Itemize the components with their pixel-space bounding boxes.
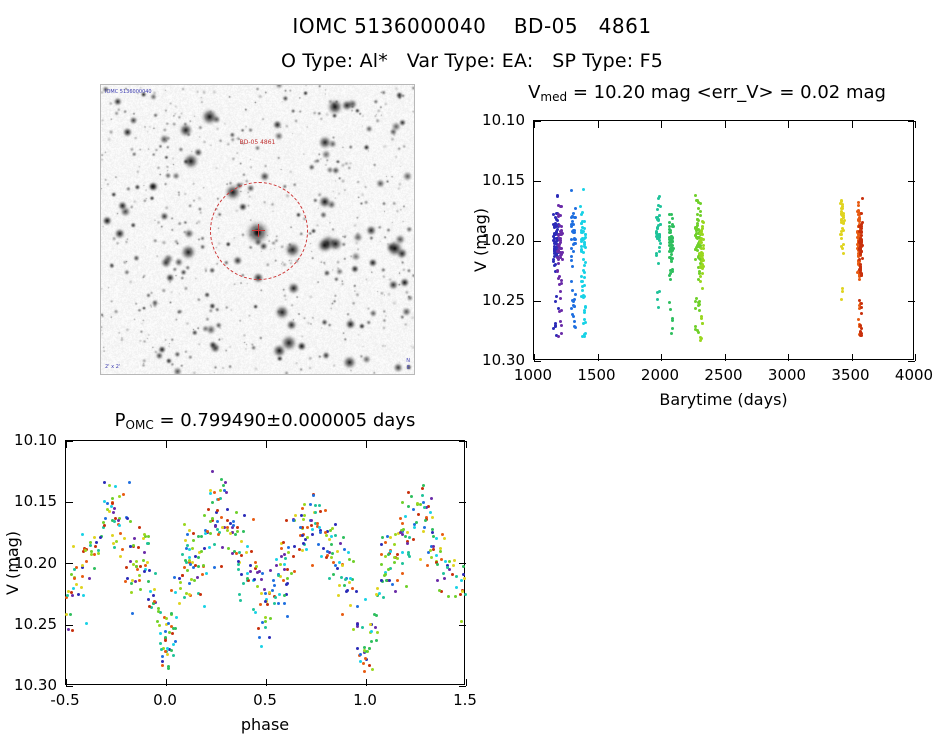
phased-point xyxy=(374,626,377,629)
phased-point xyxy=(117,519,120,522)
lightcurve-xtick xyxy=(661,121,662,128)
lightcurve-point xyxy=(584,236,587,239)
lightcurve-xtick xyxy=(598,121,599,128)
lightcurve-ytick xyxy=(534,361,541,362)
phased-point xyxy=(148,569,151,572)
phased-point xyxy=(439,550,442,553)
phased-point xyxy=(334,534,337,537)
phased-point xyxy=(188,559,191,562)
phased-point xyxy=(454,595,457,598)
lightcurve-point xyxy=(559,297,562,300)
phased-point xyxy=(319,510,322,513)
phased-point xyxy=(173,576,176,579)
phased-point xyxy=(287,551,290,554)
phased-point xyxy=(405,585,408,588)
lightcurve-point xyxy=(581,289,584,292)
lightcurve-point xyxy=(694,258,697,261)
phased-point xyxy=(436,579,439,582)
phased-point xyxy=(364,657,367,660)
phased-point xyxy=(460,620,463,623)
lightcurve-point xyxy=(694,307,697,310)
phased-point xyxy=(171,632,174,635)
phased-point xyxy=(124,580,127,583)
phased-point xyxy=(71,594,74,597)
phased-point xyxy=(94,545,97,548)
phased-point xyxy=(378,592,381,595)
phased-point xyxy=(389,536,392,539)
phased-point xyxy=(363,649,366,652)
phased-point xyxy=(138,526,141,529)
phased-point xyxy=(442,572,445,575)
phased-point xyxy=(324,509,327,512)
phased-point xyxy=(144,564,147,567)
phased-xticklabel: 1.5 xyxy=(453,691,477,709)
phased-point xyxy=(217,533,220,536)
lightcurve-point xyxy=(860,230,863,233)
phased-point xyxy=(293,545,296,548)
lightcurve-point xyxy=(860,223,863,226)
phased-point xyxy=(292,555,295,558)
phased-point xyxy=(423,526,426,529)
lightcurve-point xyxy=(840,237,843,240)
lightcurve-point xyxy=(572,315,575,318)
lightcurve-point xyxy=(554,300,557,303)
phased-point xyxy=(203,547,206,550)
lightcurve-point xyxy=(583,276,586,279)
phased-point xyxy=(339,542,342,545)
phased-point xyxy=(183,596,186,599)
phased-point xyxy=(393,543,396,546)
lightcurve-point xyxy=(583,284,586,287)
lightcurve-xtick xyxy=(598,354,599,361)
phased-point xyxy=(82,594,85,597)
phased-point xyxy=(322,547,325,550)
phased-point xyxy=(160,648,163,651)
lightcurve-point xyxy=(574,207,577,210)
phased-point xyxy=(174,640,177,643)
phased-point xyxy=(97,552,100,555)
phased-point xyxy=(181,574,184,577)
lightcurve-point xyxy=(671,244,674,247)
lightcurve-point xyxy=(583,241,586,244)
phased-point xyxy=(314,504,317,507)
phased-point xyxy=(401,562,404,565)
phased-xticklabel: 0.0 xyxy=(153,691,177,709)
phased-point xyxy=(301,534,304,537)
phased-point xyxy=(111,502,114,505)
lightcurve-xtick xyxy=(788,354,789,361)
phased-ytick xyxy=(66,686,73,687)
phased-point xyxy=(311,533,314,536)
phased-point xyxy=(229,532,232,535)
phased-point xyxy=(216,520,219,523)
phased-point xyxy=(103,524,106,527)
phased-point xyxy=(283,563,286,566)
phased-point xyxy=(407,505,410,508)
lightcurve-point xyxy=(699,202,702,205)
phased-point xyxy=(119,555,122,558)
phased-point xyxy=(209,532,212,535)
phased-point xyxy=(246,545,249,548)
phased-point xyxy=(294,514,297,517)
phased-point xyxy=(299,526,302,529)
lightcurve-xtick xyxy=(534,354,535,361)
phased-xtick xyxy=(166,679,167,686)
lightcurve-point xyxy=(702,244,705,247)
lightcurve-point xyxy=(669,308,672,311)
phased-point xyxy=(81,533,84,536)
phased-point xyxy=(89,544,92,547)
phased-point xyxy=(170,649,173,652)
phased-point xyxy=(273,602,276,605)
phased-point xyxy=(139,565,142,568)
lightcurve-point xyxy=(701,287,704,290)
phased-point xyxy=(452,564,455,567)
phased-point xyxy=(130,582,133,585)
lightcurve-xtick xyxy=(915,121,916,128)
phased-point xyxy=(81,575,84,578)
phased-point xyxy=(264,620,267,623)
phased-point xyxy=(401,572,404,575)
phased-ytick xyxy=(459,563,466,564)
phased-point xyxy=(197,535,200,538)
phased-point xyxy=(429,511,432,514)
lightcurve-point xyxy=(558,283,561,286)
phased-point xyxy=(306,526,309,529)
phased-point xyxy=(326,550,329,553)
phased-point xyxy=(341,613,344,616)
phased-point xyxy=(67,628,70,631)
phased-point xyxy=(368,664,371,667)
phased-point xyxy=(221,546,224,549)
phased-point xyxy=(158,624,161,627)
lightcurve-point xyxy=(699,210,702,213)
phased-point xyxy=(113,507,116,510)
phased-point xyxy=(421,487,424,490)
finder-object-label: BD-05 4861 xyxy=(240,139,276,146)
phased-point xyxy=(318,504,321,507)
phased-point xyxy=(167,622,170,625)
phased-yticklabel: 10.30 xyxy=(14,676,57,694)
lightcurve-ytick xyxy=(908,241,915,242)
phased-point xyxy=(444,560,447,563)
lightcurve-point xyxy=(657,306,660,309)
phased-point xyxy=(232,520,235,523)
phased-title-sub: OMC xyxy=(126,418,154,432)
phased-point xyxy=(380,543,383,546)
phased-point xyxy=(143,551,146,554)
phased-xtick xyxy=(366,441,367,448)
lightcurve-xtick xyxy=(534,121,535,128)
lightcurve-point xyxy=(583,335,586,338)
phased-point xyxy=(412,538,415,541)
phased-point xyxy=(220,516,223,519)
phased-point xyxy=(165,617,168,620)
phased-point xyxy=(122,493,125,496)
phased-point xyxy=(207,508,210,511)
phased-point xyxy=(216,509,219,512)
phased-point xyxy=(264,616,267,619)
phased-point xyxy=(227,547,230,550)
phased-point xyxy=(381,536,384,539)
phased-point xyxy=(243,514,246,517)
lightcurve-point xyxy=(570,259,573,262)
phased-point xyxy=(104,517,107,520)
phased-point xyxy=(410,495,413,498)
lightcurve-point xyxy=(699,214,702,217)
lightcurve-point xyxy=(700,253,703,256)
lightcurve-point xyxy=(555,295,558,298)
lightcurve-point xyxy=(694,194,697,197)
lightcurve-point xyxy=(699,275,702,278)
lightcurve-point xyxy=(560,279,563,282)
phased-point xyxy=(361,626,364,629)
phased-point xyxy=(148,605,151,608)
phased-point xyxy=(240,554,243,557)
phased-point xyxy=(305,548,308,551)
finder-corner-bottom-right-2: E xyxy=(407,365,410,371)
phased-point xyxy=(178,602,181,605)
phased-point xyxy=(443,577,446,580)
phased-point xyxy=(325,556,328,559)
phased-point xyxy=(394,590,397,593)
phased-point xyxy=(399,531,402,534)
lightcurve-point xyxy=(857,218,860,221)
phased-point xyxy=(351,587,354,590)
phased-point xyxy=(113,520,116,523)
phased-point xyxy=(261,572,264,575)
phased-point xyxy=(115,540,118,543)
lightcurve-point xyxy=(579,205,582,208)
phased-point xyxy=(451,573,454,576)
phased-point xyxy=(275,558,278,561)
phased-yticklabel: 10.15 xyxy=(14,492,57,510)
lightcurve-ylabel: V (mag) xyxy=(471,208,490,272)
phased-point xyxy=(196,576,199,579)
phased-point xyxy=(199,593,202,596)
phased-point xyxy=(246,572,249,575)
phased-point xyxy=(252,518,255,521)
phased-point xyxy=(240,573,243,576)
phased-point xyxy=(338,584,341,587)
lightcurve-point xyxy=(701,233,704,236)
phased-point xyxy=(430,497,433,500)
phased-point xyxy=(336,567,339,570)
phased-point xyxy=(192,532,195,535)
lightcurve-point xyxy=(699,280,702,283)
phased-point xyxy=(356,623,359,626)
lightcurve-point xyxy=(573,320,576,323)
phased-point xyxy=(170,612,173,615)
phased-point xyxy=(231,552,234,555)
phased-point xyxy=(325,534,328,537)
phased-point xyxy=(396,579,399,582)
phased-point xyxy=(211,501,214,504)
phased-point xyxy=(108,484,111,487)
phased-point xyxy=(136,568,139,571)
phased-point xyxy=(462,573,465,576)
phased-point xyxy=(235,511,238,514)
phased-point xyxy=(191,547,194,550)
phased-point xyxy=(415,521,418,524)
lightcurve-xticklabel: 3000 xyxy=(768,366,806,384)
phased-point xyxy=(249,570,252,573)
phased-point xyxy=(285,519,288,522)
phased-point xyxy=(441,533,444,536)
phased-point xyxy=(200,550,203,553)
finder-corner-top-left: IOMC 5136000040 xyxy=(105,89,152,95)
phased-point xyxy=(408,555,411,558)
phased-point xyxy=(85,622,88,625)
phased-xtick xyxy=(466,679,467,686)
phased-point xyxy=(71,629,74,632)
lightcurve-point xyxy=(574,326,577,329)
lightcurve-ytick xyxy=(908,361,915,362)
lightcurve-point xyxy=(552,260,555,263)
phased-point xyxy=(279,563,282,566)
phased-xtick xyxy=(266,679,267,686)
phased-point xyxy=(203,514,206,517)
phased-point xyxy=(242,582,245,585)
phased-point xyxy=(422,530,425,533)
phased-point xyxy=(388,579,391,582)
phased-point xyxy=(432,548,435,551)
phased-point xyxy=(135,560,138,563)
lightcurve-xtick xyxy=(915,354,916,361)
phased-point xyxy=(208,546,211,549)
lightcurve-point xyxy=(560,324,563,327)
phased-ytick xyxy=(459,625,466,626)
phased-point xyxy=(359,653,362,656)
phased-point xyxy=(455,575,458,578)
phased-point xyxy=(453,559,456,562)
phased-point xyxy=(209,492,212,495)
phased-point xyxy=(236,526,239,529)
lightcurve-point xyxy=(859,241,862,244)
phased-point xyxy=(304,538,307,541)
phased-point xyxy=(219,489,222,492)
phased-point xyxy=(406,542,409,545)
phased-point xyxy=(269,569,272,572)
phased-point xyxy=(314,511,317,514)
phased-point xyxy=(142,559,145,562)
lightcurve-xlabel: Barytime (days) xyxy=(659,390,787,409)
phased-point xyxy=(384,541,387,544)
lightcurve-point xyxy=(670,213,673,216)
lightcurve-xtick xyxy=(725,354,726,361)
lightcurve-point xyxy=(572,223,575,226)
phased-point xyxy=(179,581,182,584)
phased-point xyxy=(254,611,257,614)
vmed-pre: V xyxy=(528,82,540,103)
lightcurve-point xyxy=(559,320,562,323)
phased-point xyxy=(269,617,272,620)
phased-point xyxy=(352,628,355,631)
phased-point xyxy=(310,524,313,527)
phased-point xyxy=(237,568,240,571)
phased-point xyxy=(166,653,169,656)
phased-point xyxy=(363,670,366,673)
phased-point xyxy=(90,553,93,556)
phased-point xyxy=(184,539,187,542)
phased-point xyxy=(170,589,173,592)
phased-point xyxy=(275,564,278,567)
finder-aperture-circle xyxy=(210,182,308,280)
phased-point xyxy=(331,552,334,555)
phased-point xyxy=(129,520,132,523)
phased-point xyxy=(126,577,129,580)
phased-point xyxy=(362,662,365,665)
phased-point xyxy=(121,548,124,551)
phased-point xyxy=(370,630,373,633)
lightcurve-point xyxy=(670,253,673,256)
lightcurve-point xyxy=(657,197,660,200)
phased-point xyxy=(85,560,88,563)
phased-point xyxy=(464,593,467,596)
phased-ytick xyxy=(459,502,466,503)
phased-point xyxy=(72,587,75,590)
lightcurve-point xyxy=(860,327,863,330)
phased-xtick xyxy=(66,679,67,686)
phased-point xyxy=(238,593,241,596)
lightcurve-point xyxy=(658,214,661,217)
lightcurve-point xyxy=(840,199,843,202)
phased-point xyxy=(328,538,331,541)
phased-point xyxy=(146,542,149,545)
phased-point xyxy=(389,567,392,570)
phased-point xyxy=(264,600,267,603)
lightcurve-point xyxy=(574,293,577,296)
phased-point xyxy=(387,553,390,556)
lightcurve-point xyxy=(861,257,864,260)
phased-point xyxy=(200,535,203,538)
phased-point xyxy=(277,602,280,605)
phased-point xyxy=(342,536,345,539)
lightcurve-point xyxy=(700,315,703,318)
lightcurve-xticklabel: 4000 xyxy=(895,366,933,384)
lightcurve-point xyxy=(558,224,561,227)
phased-point xyxy=(263,588,266,591)
phased-frame xyxy=(65,440,465,685)
lightcurve-point xyxy=(857,204,860,207)
phased-point xyxy=(332,573,335,576)
phased-point xyxy=(99,536,102,539)
phased-point xyxy=(347,551,350,554)
phased-point xyxy=(142,537,145,540)
lightcurve-xtick xyxy=(788,121,789,128)
phased-point xyxy=(188,529,191,532)
lightcurve-point xyxy=(582,258,585,261)
phased-point xyxy=(139,588,142,591)
phased-xticklabel: 1.0 xyxy=(353,691,377,709)
phased-point xyxy=(368,647,371,650)
phased-point xyxy=(387,568,390,571)
phased-point xyxy=(334,564,337,567)
lightcurve-point xyxy=(668,244,671,247)
phased-point xyxy=(203,605,206,608)
phased-ytick xyxy=(66,502,73,503)
lightcurve-point xyxy=(556,270,559,273)
phased-point xyxy=(174,591,177,594)
phased-point xyxy=(429,549,432,552)
phased-point xyxy=(385,579,388,582)
phased-point xyxy=(334,523,337,526)
lightcurve-point xyxy=(700,337,703,340)
phased-point xyxy=(220,565,223,568)
phased-point xyxy=(348,558,351,561)
lightcurve-yticklabel: 10.10 xyxy=(482,111,525,129)
phased-point xyxy=(283,594,286,597)
